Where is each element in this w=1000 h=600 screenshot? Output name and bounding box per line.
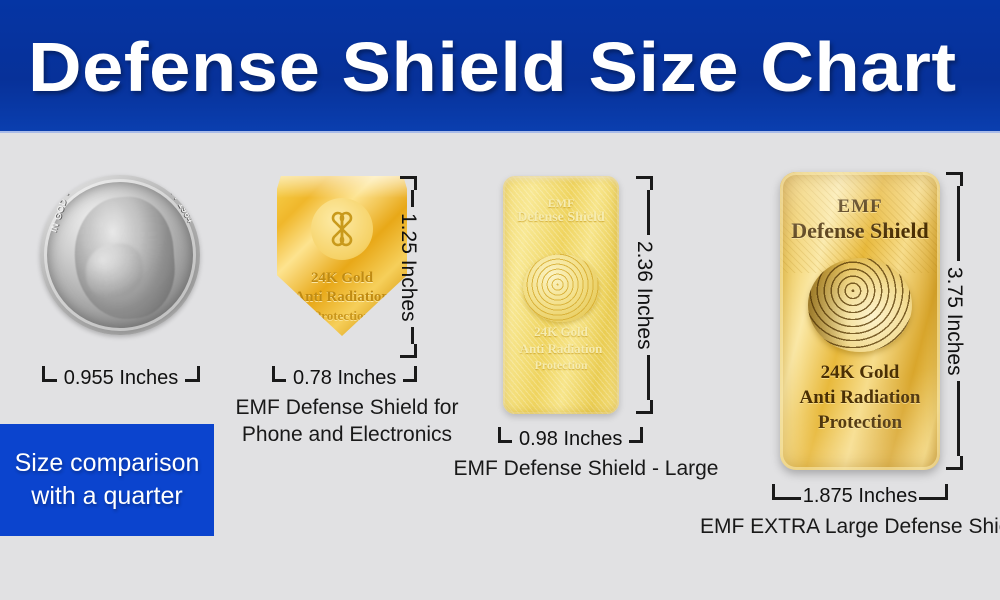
bracket-cap-bottom <box>636 400 653 414</box>
bracket-cap-left <box>42 366 56 382</box>
bracket-rule-bottom <box>957 381 960 456</box>
bracket-rule-top <box>411 190 414 207</box>
shield-small-product: 24K Gold Anti Radiation Protection <box>277 176 407 336</box>
page-title: Defense Shield Size Chart <box>28 27 957 107</box>
shield-engraving-line3: Protection <box>277 308 407 324</box>
shield-large-width-dimension: 0.98 Inches <box>498 413 624 443</box>
shield-large-product: EMF Defense Shield 24K Gold Anti Radiati… <box>503 176 619 414</box>
quarter-width-label: 0.955 Inches <box>57 368 186 388</box>
knot-logo-icon <box>311 198 373 260</box>
shield-large-caption: EMF Defense Shield - Large <box>436 455 736 482</box>
bracket-cap-top <box>946 172 963 186</box>
coin-face: IN GOD WE TRUST LIBERTY 1964 <box>40 175 200 335</box>
shield-gloss <box>277 176 407 198</box>
shield-small-height-dimension: 1.25 Inches <box>400 176 446 358</box>
bracket-cap-right <box>186 366 200 382</box>
shield-engraving-line1: 24K Gold <box>277 270 407 287</box>
bracket-rule-right <box>919 497 934 500</box>
bar-edge-highlight <box>780 172 940 470</box>
coin-legend-right: LIBERTY 1964 <box>154 175 196 225</box>
bracket-cap-bottom <box>400 344 417 358</box>
bracket-cap-top <box>636 176 653 190</box>
shield-small-height-label: 1.25 Inches <box>398 207 419 328</box>
bracket-rule-bottom <box>411 327 414 344</box>
bracket-rule-top <box>957 186 960 261</box>
bracket-cap-left <box>498 427 512 443</box>
bracket-cap-top <box>400 176 417 190</box>
size-chart-infographic: Defense Shield Size Chart IN GOD WE TRUS… <box>0 0 1000 600</box>
bracket-cap-right <box>403 366 417 382</box>
shield-large-height-label: 2.36 Inches <box>634 235 655 356</box>
callout-text: Size comparison with a quarter <box>15 447 200 513</box>
shield-extra-large-width-label: 1.875 Inches <box>801 486 920 506</box>
shield-small-caption-line1: EMF Defense Shield for <box>222 394 472 421</box>
bracket-cap-bottom <box>946 456 963 470</box>
bracket-cap-right <box>629 427 643 443</box>
bracket-rule-left <box>786 497 801 500</box>
shield-extra-large-product: EMF Defense Shield 24K Gold Anti Radiati… <box>780 172 940 470</box>
shield-extra-large-width-dimension: 1.875 Inches <box>772 470 948 500</box>
bracket-rule-bottom <box>647 355 650 400</box>
shield-large-height-dimension: 2.36 Inches <box>636 176 682 414</box>
shield-small-width-label: 0.78 Inches <box>286 368 403 388</box>
shield-small-caption: EMF Defense Shield for Phone and Electro… <box>222 394 472 448</box>
bracket-cap-left <box>272 366 286 382</box>
shield-small-width-dimension: 0.78 Inches <box>272 352 396 382</box>
coin-legend-left: IN GOD WE TRUST <box>48 175 85 234</box>
bracket-cap-right <box>934 484 948 500</box>
quarter-coin: IN GOD WE TRUST LIBERTY 1964 <box>40 175 200 335</box>
bracket-rule-top <box>647 190 650 235</box>
quarter-width-dimension: 0.955 Inches <box>42 352 200 382</box>
shield-extra-large-caption-line1: EMF EXTRA Large Defense Shield <box>700 513 1000 540</box>
bar-edge-highlight <box>503 176 619 414</box>
shield-large-width-label: 0.98 Inches <box>512 429 629 449</box>
coin-legend: IN GOD WE TRUST LIBERTY 1964 <box>40 175 200 335</box>
header-banner: Defense Shield Size Chart <box>0 0 1000 133</box>
shield-extra-large-height-dimension: 3.75 Inches <box>946 172 992 470</box>
shield-small-caption-line2: Phone and Electronics <box>222 421 472 448</box>
shield-extra-large-caption: EMF EXTRA Large Defense Shield <box>700 513 1000 540</box>
shield-large-caption-line1: EMF Defense Shield - Large <box>436 455 736 482</box>
shield-extra-large-height-label: 3.75 Inches <box>944 261 965 382</box>
shield-engraving-line2: Anti Radiation <box>277 289 407 306</box>
bracket-cap-left <box>772 484 786 500</box>
size-comparison-callout: Size comparison with a quarter <box>0 424 214 536</box>
